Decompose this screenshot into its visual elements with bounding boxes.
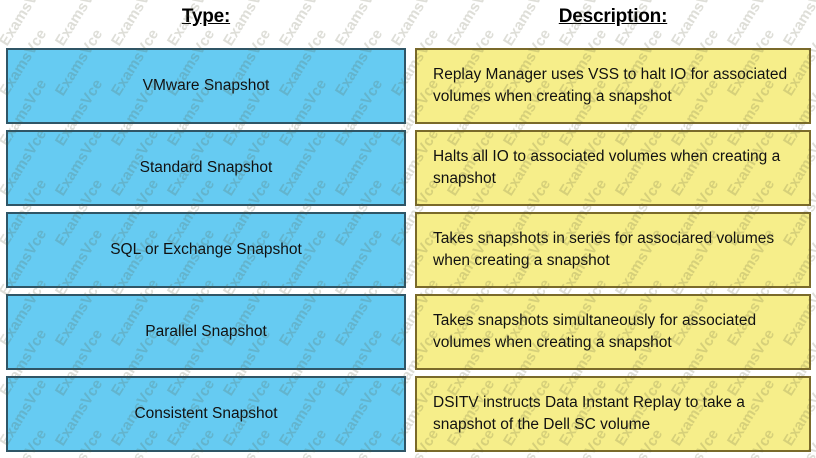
description-cell-4[interactable]: Takes snapshots simultaneously for assoc…	[415, 294, 811, 370]
type-cell-label: SQL or Exchange Snapshot	[110, 239, 302, 261]
type-cell-4[interactable]: Parallel Snapshot	[6, 294, 406, 370]
description-cell-label: Halts all IO to associated volumes when …	[433, 146, 799, 191]
description-cell-5[interactable]: DSITV instructs Data Instant Replay to t…	[415, 376, 811, 452]
type-cell-3[interactable]: SQL or Exchange Snapshot	[6, 212, 406, 288]
table-row: VMware Snapshot Replay Manager uses VSS …	[0, 48, 816, 128]
type-cell-5[interactable]: Consistent Snapshot	[6, 376, 406, 452]
type-cell-1[interactable]: VMware Snapshot	[6, 48, 406, 124]
type-cell-label: Standard Snapshot	[140, 157, 273, 179]
matching-grid: VMware Snapshot Replay Manager uses VSS …	[0, 48, 816, 458]
description-cell-3[interactable]: Takes snapshots in series for associared…	[415, 212, 811, 288]
description-cell-2[interactable]: Halts all IO to associated volumes when …	[415, 130, 811, 206]
type-column-header: Type:	[6, 6, 406, 28]
table-row: Standard Snapshot Halts all IO to associ…	[0, 130, 816, 210]
description-cell-1[interactable]: Replay Manager uses VSS to halt IO for a…	[415, 48, 811, 124]
description-column-header: Description:	[415, 6, 811, 28]
description-cell-label: Takes snapshots in series for associared…	[433, 228, 799, 273]
description-cell-label: DSITV instructs Data Instant Replay to t…	[433, 392, 799, 437]
type-cell-label: Consistent Snapshot	[134, 403, 277, 425]
type-cell-2[interactable]: Standard Snapshot	[6, 130, 406, 206]
table-row: Consistent Snapshot DSITV instructs Data…	[0, 376, 816, 456]
column-headers: Type: Description:	[0, 0, 816, 48]
matching-exercise-canvas: Type: Description: VMware Snapshot Repla…	[0, 0, 816, 458]
description-cell-label: Replay Manager uses VSS to halt IO for a…	[433, 64, 799, 109]
table-row: Parallel Snapshot Takes snapshots simult…	[0, 294, 816, 374]
type-cell-label: VMware Snapshot	[143, 75, 270, 97]
table-row: SQL or Exchange Snapshot Takes snapshots…	[0, 212, 816, 292]
type-cell-label: Parallel Snapshot	[145, 321, 267, 343]
description-cell-label: Takes snapshots simultaneously for assoc…	[433, 310, 799, 355]
